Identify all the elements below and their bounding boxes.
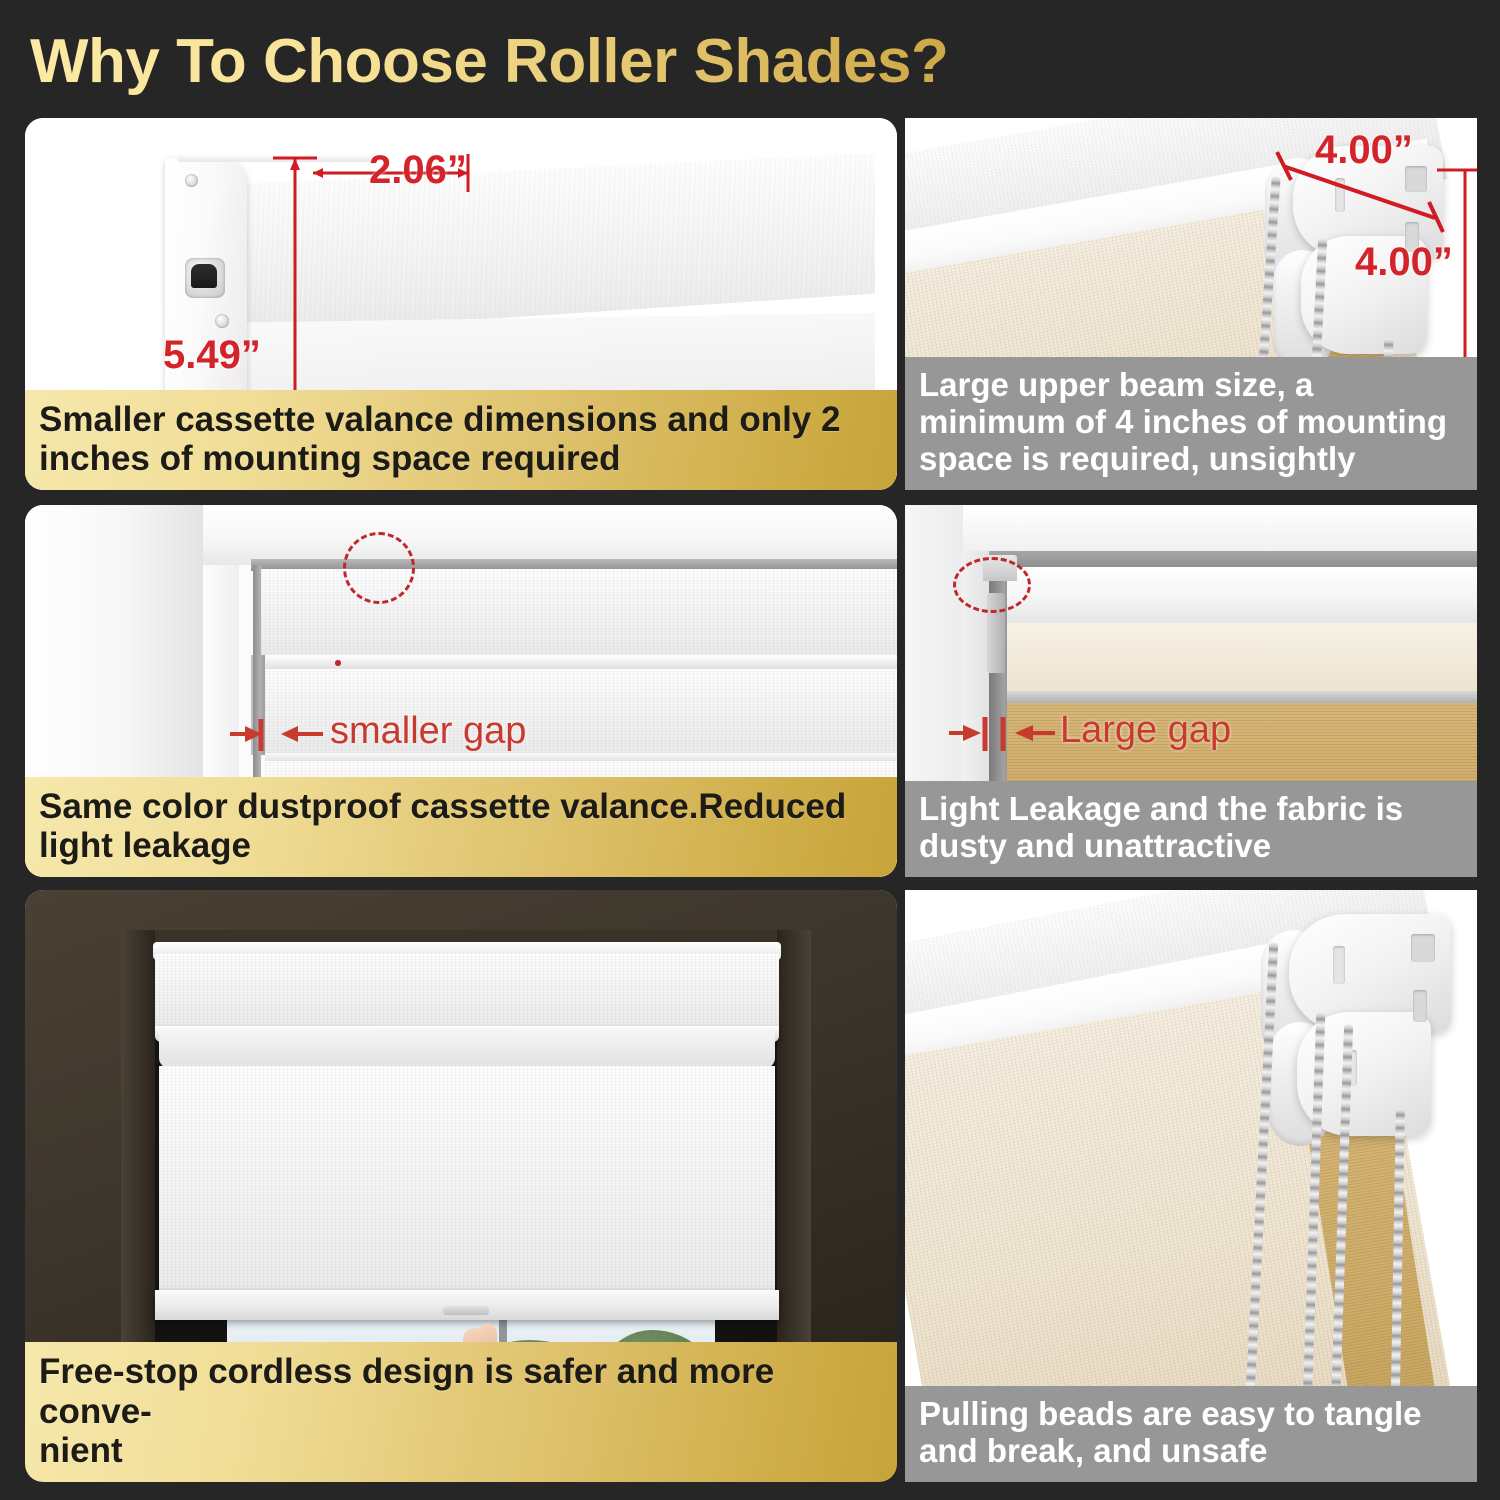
panel-light-leakage: Large gap Light Leakage and the fabric i… (905, 505, 1477, 877)
panel-caption-dustproof-valance: Same color dustproof cassette valance.Re… (25, 777, 897, 877)
panel-caption-cordless-design: Free-stop cordless design is safer and m… (25, 1342, 897, 1482)
caption-line-2: minimum of 4 inches of mounting (919, 404, 1463, 441)
caption-line-3: space is required, unsightly (919, 441, 1463, 478)
panel-dustproof-valance: smaller gap Same color dustproof cassett… (25, 505, 897, 877)
page-title: Why To Choose Roller Shades? (30, 22, 1130, 102)
height-dimension-label: 5.49” (163, 333, 261, 378)
smaller-gap-label: smaller gap (330, 710, 526, 753)
panel-cordless-design: Free-stop cordless design is safer and m… (25, 890, 897, 1482)
infographic-page: Why To Choose Roller Shades? (0, 0, 1500, 1500)
width-dimension-label: 4.00” (1315, 128, 1413, 173)
width-dimension-label: 2.06” (369, 148, 467, 193)
pull-grip (443, 1306, 489, 1315)
caption-line-2: light leakage (39, 826, 883, 865)
large-gap-label: Large gap (1060, 709, 1231, 752)
caption-line-2: and break, and unsafe (919, 1433, 1463, 1470)
panel-pulling-beads: Pulling beads are easy to tangle and bre… (905, 890, 1477, 1482)
panel-cassette-valance: 5.49” 2.06” Smaller cassette valance dim… (25, 118, 897, 490)
caption-line-2: inches of mounting space required (39, 439, 883, 478)
caption-line-2: nient (39, 1431, 883, 1470)
panel-caption-pulling-beads: Pulling beads are easy to tangle and bre… (905, 1386, 1477, 1482)
height-dimension-label: 4.00” (1355, 240, 1453, 285)
caption-line-1: Pulling beads are easy to tangle (919, 1396, 1463, 1433)
caption-line-1: Smaller cassette valance dimensions and … (39, 400, 883, 439)
panel-caption-cassette-valance: Smaller cassette valance dimensions and … (25, 390, 897, 490)
caption-line-2: dusty and unattractive (919, 828, 1463, 865)
panel-large-upper-beam: 4.00” 4.00” Large upper beam size, a min… (905, 118, 1477, 490)
caption-line-1: Same color dustproof cassette valance.Re… (39, 787, 883, 826)
caption-line-1: Free-stop cordless design is safer and m… (39, 1352, 883, 1430)
panel-caption-light-leakage: Light Leakage and the fabric is dusty an… (905, 781, 1477, 877)
caption-line-1: Light Leakage and the fabric is (919, 791, 1463, 828)
panel-caption-large-upper-beam: Large upper beam size, a minimum of 4 in… (905, 357, 1477, 490)
caption-line-1: Large upper beam size, a (919, 367, 1463, 404)
